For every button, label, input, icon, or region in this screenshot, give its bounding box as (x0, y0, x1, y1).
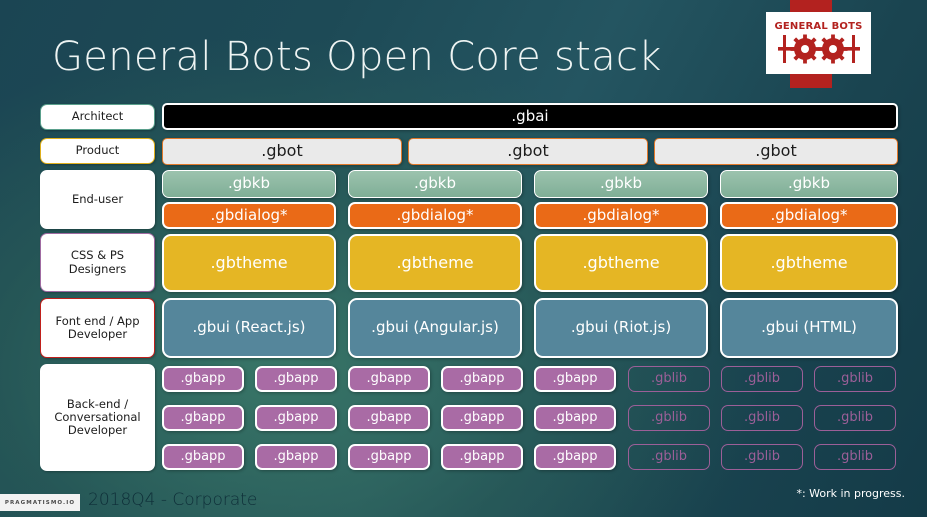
block-label: .gbapp (459, 411, 504, 426)
deck-label: 2018Q4 - Corporate (88, 490, 257, 510)
block-label: .gbkb (228, 175, 270, 192)
block-label: .gblib (744, 372, 780, 387)
block-gblib[interactable]: .gblib (628, 405, 710, 431)
block-label: .gbapp (552, 372, 597, 387)
block-label: .gbtheme (210, 254, 287, 272)
role-label-text: CSS & PS Designers (45, 249, 150, 275)
block-gbui-react[interactable]: .gbui (React.js) (162, 298, 336, 358)
block-label: .gbui (HTML) (761, 319, 857, 336)
block-label: .gblib (837, 411, 873, 426)
block-label: .gbapp (366, 450, 411, 465)
block-gbtheme[interactable]: .gbtheme (348, 234, 522, 292)
block-gblib[interactable]: .gblib (628, 444, 710, 470)
block-gblib[interactable]: .gblib (628, 366, 710, 392)
block-gbapp[interactable]: .gbapp (441, 405, 523, 431)
block-gbot[interactable]: .gbot (654, 138, 898, 165)
block-label: .gbui (React.js) (192, 319, 305, 336)
block-gbapp[interactable]: .gbapp (534, 444, 616, 470)
block-label: .gbkb (600, 175, 642, 192)
role-label-text: Architect (72, 110, 124, 123)
block-gblib[interactable]: .gblib (721, 366, 803, 392)
block-label: .gbapp (273, 372, 318, 387)
block-label: .gblib (651, 411, 687, 426)
block-gblib[interactable]: .gblib (814, 366, 896, 392)
block-label: .gbapp (180, 411, 225, 426)
block-gbapp[interactable]: .gbapp (255, 405, 337, 431)
role-label-product: Product (40, 138, 155, 164)
block-gbapp[interactable]: .gbapp (441, 444, 523, 470)
role-label-end-user: End-user (40, 170, 155, 229)
block-label: .gbapp (366, 411, 411, 426)
role-label-front-end-app-developer: Font end / App Developer (40, 298, 155, 358)
block-label: .gbapp (180, 372, 225, 387)
block-label: .gblib (651, 372, 687, 387)
block-gbdialog[interactable]: .gbdialog* (348, 202, 522, 229)
role-label-back-end-conversational-developer: Back-end / Conversational Developer (40, 364, 155, 471)
block-label: .gbtheme (396, 254, 473, 272)
block-label: .gbapp (273, 450, 318, 465)
role-label-text: End-user (72, 193, 123, 206)
block-gbot[interactable]: .gbot (162, 138, 402, 165)
block-label: .gbapp (366, 372, 411, 387)
block-label: .gbapp (552, 411, 597, 426)
role-label-architect: Architect (40, 104, 155, 130)
block-label: .gbkb (414, 175, 456, 192)
block-label: .gbot (261, 142, 302, 160)
block-gbapp[interactable]: .gbapp (255, 444, 337, 470)
block-label: .gbdialog* (770, 207, 847, 224)
block-gbapp[interactable]: .gbapp (348, 405, 430, 431)
block-gbapp[interactable]: .gbapp (348, 444, 430, 470)
block-gbdialog[interactable]: .gbdialog* (162, 202, 336, 229)
block-label: .gbkb (788, 175, 830, 192)
block-gblib[interactable]: .gblib (721, 444, 803, 470)
block-label: .gblib (651, 450, 687, 465)
block-gblib[interactable]: .gblib (814, 405, 896, 431)
block-gbtheme[interactable]: .gbtheme (162, 234, 336, 292)
block-label: .gbapp (459, 450, 504, 465)
slide-canvas: GENERAL BOTS (0, 0, 927, 517)
block-gbapp[interactable]: .gbapp (348, 366, 430, 392)
block-gbapp[interactable]: .gbapp (534, 366, 616, 392)
block-gbdialog[interactable]: .gbdialog* (534, 202, 708, 229)
block-gbkb[interactable]: .gbkb (720, 170, 898, 198)
block-label: .gblib (744, 411, 780, 426)
block-label: .gbui (Riot.js) (571, 319, 671, 336)
block-label: .gbai (511, 108, 548, 125)
role-label-css-ps-designers: CSS & PS Designers (40, 233, 155, 292)
block-gbtheme[interactable]: .gbtheme (534, 234, 708, 292)
block-label: .gbdialog* (396, 207, 473, 224)
block-label: .gbot (507, 142, 548, 160)
block-gbapp[interactable]: .gbapp (162, 366, 244, 392)
block-gbapp[interactable]: .gbapp (534, 405, 616, 431)
pragmatismo-wordmark: PRAGMATISMO.IO (5, 500, 75, 506)
pragmatismo-logo: PRAGMATISMO.IO (0, 494, 80, 511)
block-gbui-angular[interactable]: .gbui (Angular.js) (348, 298, 522, 358)
block-gbot[interactable]: .gbot (408, 138, 648, 165)
block-gbapp[interactable]: .gbapp (162, 405, 244, 431)
block-label: .gbui (Angular.js) (371, 319, 499, 336)
block-gblib[interactable]: .gblib (721, 405, 803, 431)
block-label: .gbapp (459, 372, 504, 387)
block-gbdialog[interactable]: .gbdialog* (720, 202, 898, 229)
block-label: .gbapp (180, 450, 225, 465)
block-label: .gbdialog* (582, 207, 659, 224)
block-gbui-riot[interactable]: .gbui (Riot.js) (534, 298, 708, 358)
block-gbkb[interactable]: .gbkb (162, 170, 336, 198)
stack-diagram: Architect Product End-user CSS & PS Desi… (0, 0, 927, 517)
block-label: .gbapp (552, 450, 597, 465)
block-gbapp[interactable]: .gbapp (441, 366, 523, 392)
block-label: .gbapp (273, 411, 318, 426)
role-label-text: Font end / App Developer (45, 315, 150, 341)
block-gbkb[interactable]: .gbkb (534, 170, 708, 198)
block-gbai[interactable]: .gbai (162, 103, 898, 130)
role-label-text: Back-end / Conversational Developer (45, 398, 150, 438)
block-label: .gbdialog* (210, 207, 287, 224)
block-gbkb[interactable]: .gbkb (348, 170, 522, 198)
block-label: .gbtheme (582, 254, 659, 272)
block-label: .gblib (837, 450, 873, 465)
block-label: .gbot (755, 142, 796, 160)
block-gbtheme[interactable]: .gbtheme (720, 234, 898, 292)
block-label: .gbtheme (770, 254, 847, 272)
block-gblib[interactable]: .gblib (814, 444, 896, 470)
role-label-text: Product (76, 144, 120, 157)
block-label: .gblib (837, 372, 873, 387)
block-gbapp[interactable]: .gbapp (162, 444, 244, 470)
block-label: .gblib (744, 450, 780, 465)
block-gbui-html[interactable]: .gbui (HTML) (720, 298, 898, 358)
work-in-progress-note: *: Work in progress. (796, 487, 905, 500)
block-gbapp[interactable]: .gbapp (255, 366, 337, 392)
